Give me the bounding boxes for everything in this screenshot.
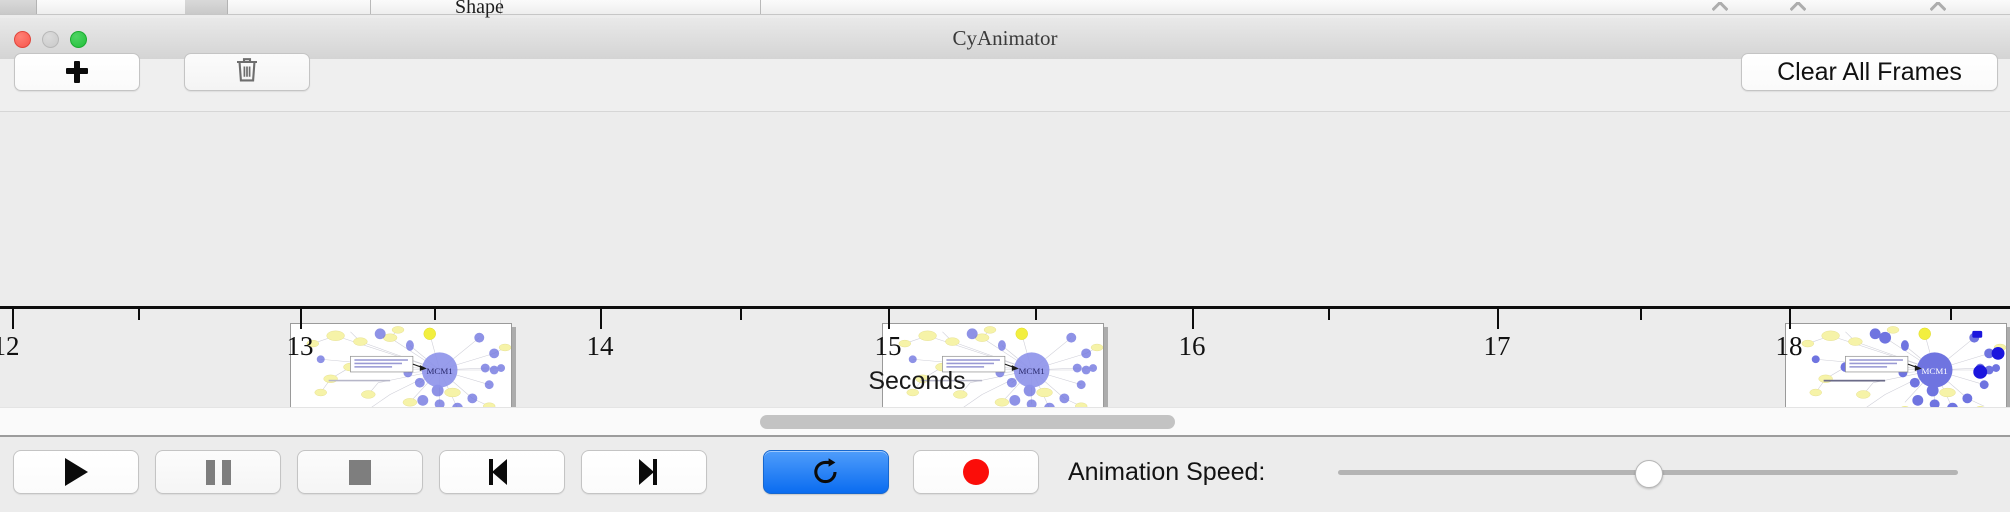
axis-tick-18 <box>1789 309 1791 329</box>
delete-frame-button[interactable] <box>184 53 310 91</box>
playback-control-bar: Animation Speed: <box>0 435 2010 512</box>
axis-tick-15 <box>888 309 890 329</box>
axis-label-18: 18 <box>1776 331 1803 362</box>
axis-minor-tick <box>740 309 742 320</box>
record-button[interactable] <box>913 450 1039 494</box>
axis-label-16: 16 <box>1179 331 1206 362</box>
axis-title-text: Seconds <box>868 367 965 395</box>
record-icon <box>963 459 989 485</box>
axis-minor-tick <box>1328 309 1330 320</box>
timeline-top-edge <box>0 111 2010 112</box>
axis-label-15: 15 <box>875 331 902 362</box>
axis-minor-tick <box>1950 309 1952 320</box>
axis-title: Seconds <box>0 367 2010 396</box>
animation-speed-slider[interactable] <box>1338 450 1958 494</box>
skip-to-start-button[interactable] <box>439 450 565 494</box>
scrollbar-thumb[interactable] <box>760 415 1175 429</box>
axis-minor-tick <box>434 309 436 320</box>
background-shape-label: Shape <box>455 0 504 18</box>
axis-label-12: 12 <box>0 331 20 362</box>
timeline-scrollbar[interactable] <box>0 407 2010 436</box>
chevron-icon <box>1790 2 1806 13</box>
chevron-icon <box>1930 2 1946 13</box>
timeline-panel[interactable]: MCM1 <box>0 111 2010 407</box>
axis-minor-tick <box>1640 309 1642 320</box>
background-cell <box>250 0 371 14</box>
slider-thumb[interactable] <box>1635 460 1663 488</box>
axis-tick-12 <box>12 309 14 329</box>
axis-minor-tick <box>138 309 140 320</box>
clear-all-frames-button[interactable]: Clear All Frames <box>1741 53 1998 91</box>
axis-label-14: 14 <box>587 331 614 362</box>
background-cell <box>500 0 761 14</box>
pause-icon <box>206 460 231 485</box>
play-button[interactable] <box>13 450 139 494</box>
skip-back-icon <box>489 459 515 485</box>
stop-button[interactable] <box>297 450 423 494</box>
background-tab <box>0 0 37 14</box>
plus-icon <box>65 60 89 84</box>
add-frame-button[interactable] <box>14 53 140 91</box>
chevron-icon <box>1712 2 1728 13</box>
cyanimator-window: Shape CyAnimator Clear All Frames <box>0 0 2010 510</box>
axis-tick-13 <box>300 309 302 329</box>
axis-tick-17 <box>1497 309 1499 329</box>
stop-icon <box>349 460 371 485</box>
background-window-sliver: Shape <box>0 0 2010 18</box>
axis-tick-16 <box>1192 309 1194 329</box>
animation-speed-label: Animation Speed: <box>1068 450 1265 494</box>
axis-label-17: 17 <box>1484 331 1511 362</box>
axis-label-13: 13 <box>287 331 314 362</box>
trash-icon <box>235 56 259 88</box>
loop-icon <box>811 457 841 487</box>
loop-button[interactable] <box>763 450 889 494</box>
background-tab <box>185 0 228 14</box>
pause-button[interactable] <box>155 450 281 494</box>
skip-to-end-button[interactable] <box>581 450 707 494</box>
play-icon <box>65 458 88 486</box>
axis-tick-14 <box>600 309 602 329</box>
skip-forward-icon <box>631 459 657 485</box>
axis-minor-tick <box>1035 309 1037 320</box>
